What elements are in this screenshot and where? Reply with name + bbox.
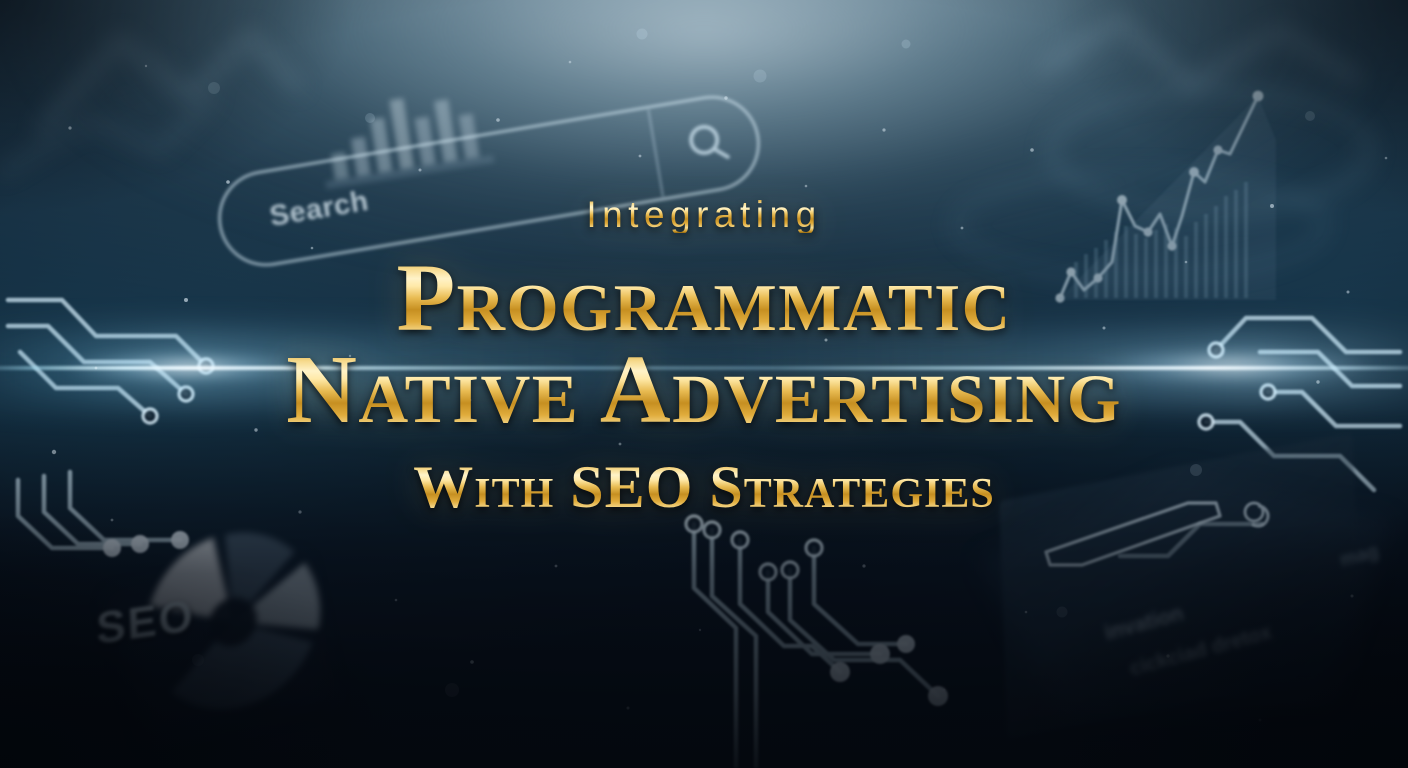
hero-banner: Search invation cickciad dretox mag SEO xyxy=(0,0,1408,768)
title-block: Integrating Programmatic Native Advertis… xyxy=(0,196,1408,517)
title-eyebrow: Integrating xyxy=(0,196,1408,233)
title-subtitle: With SEO Strategies xyxy=(0,457,1408,517)
title-line-2: Native Advertising xyxy=(0,341,1408,441)
title-line-1: Programmatic xyxy=(0,249,1408,347)
